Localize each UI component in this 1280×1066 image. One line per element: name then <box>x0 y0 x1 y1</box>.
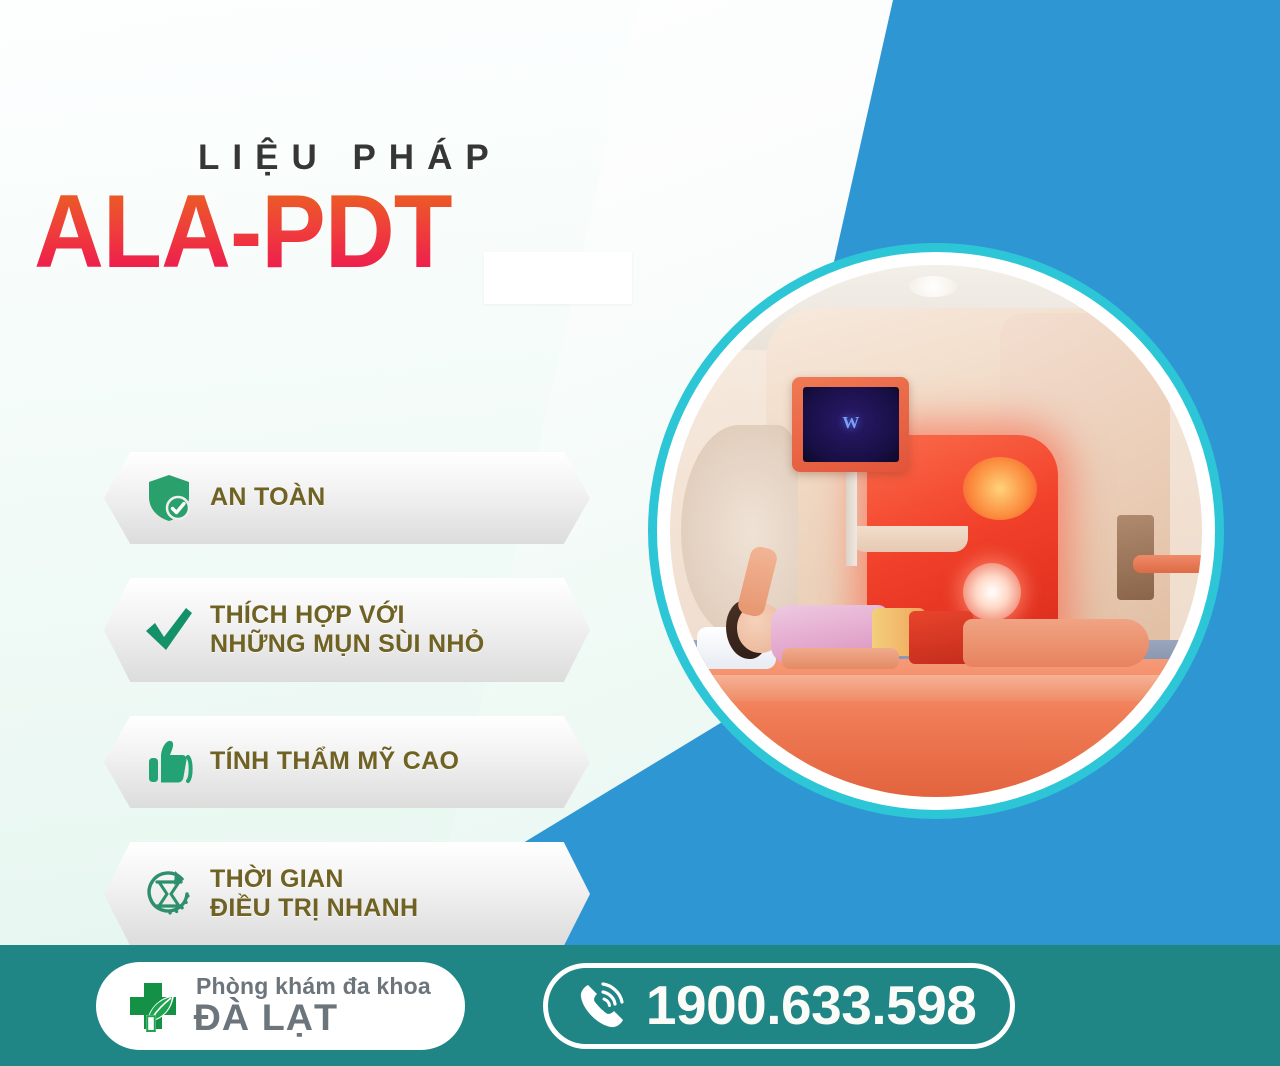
phone-number: 1900.633.598 <box>646 978 976 1033</box>
thumbs-up-icon <box>138 737 200 787</box>
feature-item-tham-my[interactable]: TÍNH THẨM MỸ CAO <box>104 716 590 808</box>
footer-bar: Phòng khám đa khoa ĐÀ LẠT 1900.633.598 <box>0 945 1280 1066</box>
photo-white-border: W <box>657 252 1215 810</box>
ala-pdt-promo-banner: LIỆU PHÁP ALA-PDT AN TOÀN THÍCH HỢP VỚI … <box>0 0 1280 1066</box>
check-mark-icon <box>138 604 200 656</box>
page-title: ALA-PDT <box>34 179 452 285</box>
phototherapy-machine-photo: W <box>670 265 1202 797</box>
feature-item-thich-hop[interactable]: THÍCH HỢP VỚI NHỮNG MỤN SÙI NHỎ <box>104 578 590 682</box>
white-redaction-box <box>484 252 632 304</box>
kicker-text: LIỆU PHÁP <box>198 140 674 175</box>
clinic-name: ĐÀ LẠT <box>194 999 434 1036</box>
feature-label: TÍNH THẨM MỸ CAO <box>210 747 459 777</box>
feature-label: THÍCH HỢP VỚI NHỮNG MỤN SÙI NHỎ <box>210 601 484 660</box>
clinic-text-block: Phòng khám đa khoa ĐÀ LẠT <box>196 975 431 1036</box>
medical-cross-leaf-icon <box>122 975 184 1037</box>
hourglass-clock-icon <box>138 867 200 921</box>
phone-ringing-icon <box>574 978 630 1034</box>
machine-monitor: W <box>792 377 909 473</box>
monitor-logo: W <box>842 413 859 433</box>
feature-item-thoi-gian[interactable]: THỜI GIAN ĐIỀU TRỊ NHANH <box>104 842 590 946</box>
treatment-photo-ring: W <box>648 243 1224 819</box>
feature-label: AN TOÀN <box>210 483 326 513</box>
clinic-subtitle: Phòng khám đa khoa <box>196 975 431 998</box>
feature-label: THỜI GIAN ĐIỀU TRỊ NHANH <box>210 865 418 924</box>
clinic-badge[interactable]: Phòng khám đa khoa ĐÀ LẠT <box>96 962 465 1050</box>
phone-cta-button[interactable]: 1900.633.598 <box>543 963 1015 1049</box>
feature-list: AN TOÀN THÍCH HỢP VỚI NHỮNG MỤN SÙI NHỎ … <box>104 452 590 980</box>
shield-check-icon <box>138 473 200 523</box>
feature-item-an-toan[interactable]: AN TOÀN <box>104 452 590 544</box>
